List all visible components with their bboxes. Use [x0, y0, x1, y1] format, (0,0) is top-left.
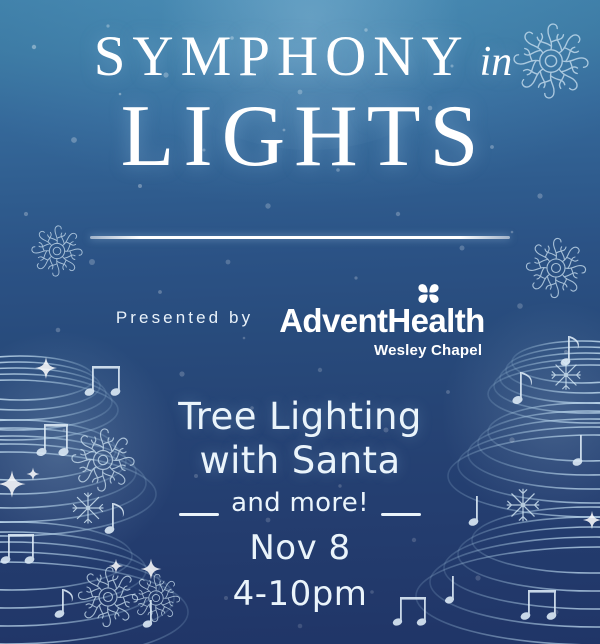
- poster-content: SYMPHONYin LIGHTS Presented by: [0, 0, 600, 644]
- poster-canvas: SYMPHONYin LIGHTS Presented by: [0, 0, 600, 644]
- headline-word-lights: LIGHTS: [0, 93, 600, 181]
- event-line-1: Tree Lighting: [0, 395, 600, 439]
- headline-line-symphony: SYMPHONYin: [0, 28, 600, 85]
- headline-word-symphony: SYMPHONY: [94, 25, 470, 88]
- and-more-row: and more!: [0, 488, 600, 518]
- and-more-rule-right: [381, 513, 421, 516]
- and-more-rule-left: [179, 513, 219, 516]
- sponsor-name: AdventHealth: [279, 304, 484, 337]
- event-details: Tree Lighting with Santa and more! Nov 8…: [0, 395, 600, 614]
- adventhealth-flower-mark-icon: [417, 282, 440, 305]
- headline-word-in: in: [470, 39, 513, 85]
- headline-divider: [90, 236, 510, 239]
- event-time: 4-10pm: [0, 574, 600, 614]
- sponsor-location: Wesley Chapel: [279, 342, 484, 359]
- event-line-2: with Santa: [0, 439, 600, 483]
- poster-headline: SYMPHONYin LIGHTS: [0, 28, 600, 181]
- presented-by-row: Presented by AdventHealth Wesley Chapel: [0, 283, 600, 359]
- and-more-text: and more!: [231, 488, 369, 518]
- presented-by-label: Presented by: [116, 308, 253, 328]
- sponsor-logo: AdventHealth Wesley Chapel: [279, 283, 484, 359]
- event-date: Nov 8: [0, 528, 600, 568]
